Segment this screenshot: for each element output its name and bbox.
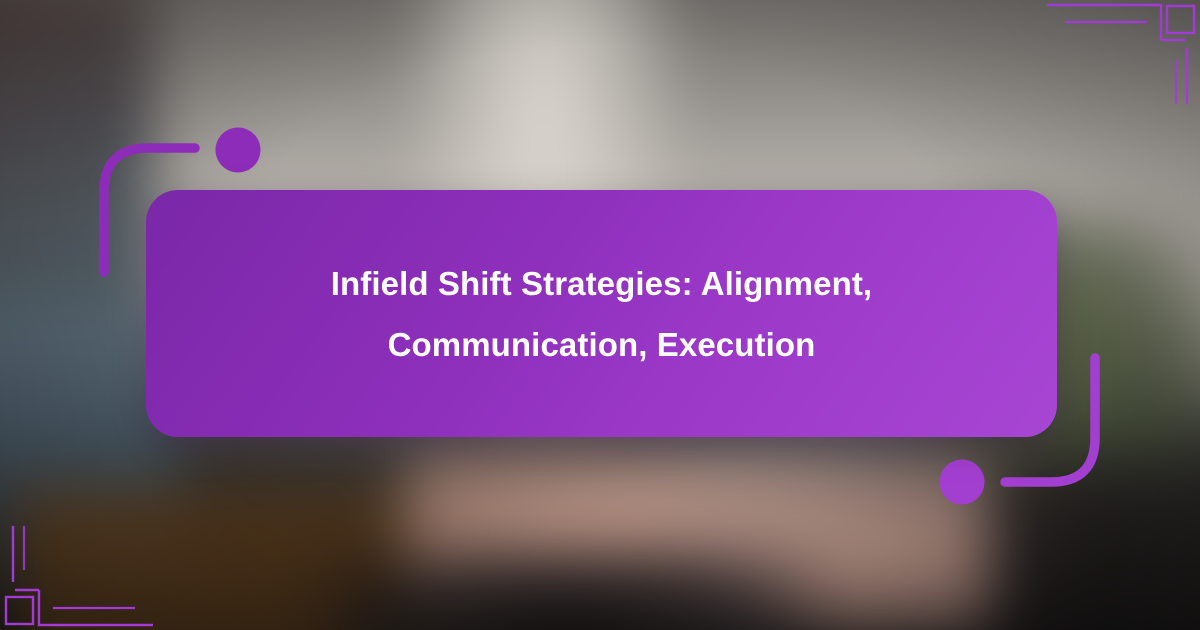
share-card-canvas: Infield Shift Strategies: Alignment, Com…	[0, 0, 1200, 630]
title-card: Infield Shift Strategies: Alignment, Com…	[146, 190, 1057, 437]
page-title: Infield Shift Strategies: Alignment, Com…	[331, 253, 872, 375]
